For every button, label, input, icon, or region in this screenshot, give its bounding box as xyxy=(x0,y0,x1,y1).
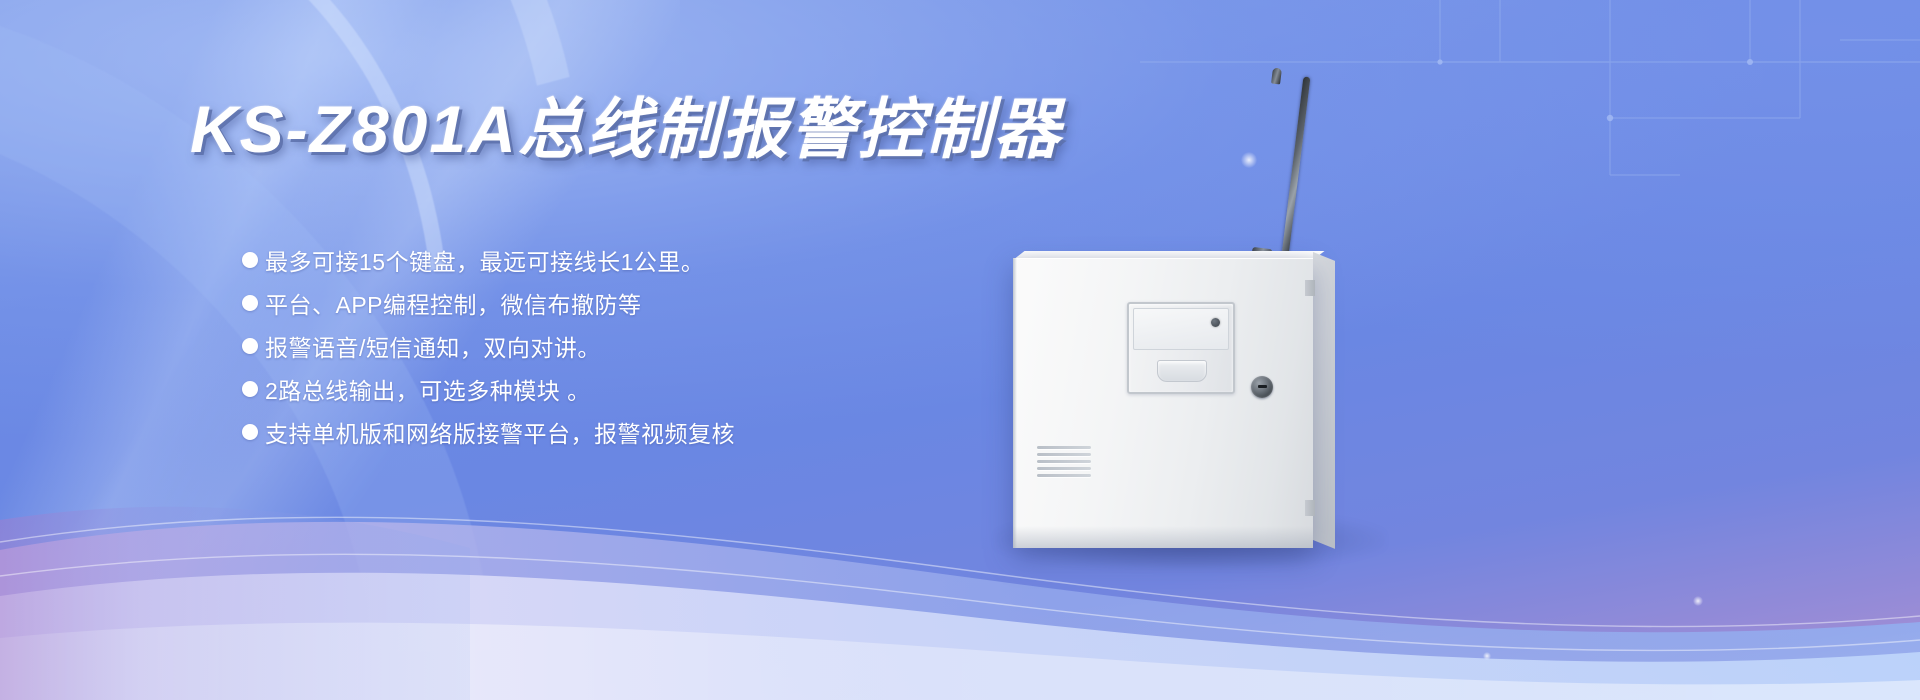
enclosure-side-face xyxy=(1313,252,1335,549)
vent-slot xyxy=(1037,453,1091,456)
enclosure-bottom-shading xyxy=(1013,526,1313,548)
feature-item: 平台、APP编程控制，微信布撤防等 xyxy=(242,281,735,324)
feature-item: 支持单机版和网络版接警平台，报警视频复核 xyxy=(242,410,735,453)
vent-slot xyxy=(1037,474,1091,477)
feature-item: 最多可接15个键盘，最远可接线长1公里。 xyxy=(242,238,735,281)
feature-item: 报警语音/短信通知，双向对讲。 xyxy=(242,324,735,367)
status-led-icon xyxy=(1211,318,1220,327)
feature-text: 报警语音/短信通知，双向对讲。 xyxy=(265,329,601,363)
bullet-icon xyxy=(242,381,258,397)
product-image xyxy=(1005,80,1425,580)
vent-slot xyxy=(1037,467,1091,470)
bullet-icon xyxy=(242,424,258,440)
ventilation-slots xyxy=(1037,446,1091,480)
feature-item: 2路总线输出，可选多种模块 。 xyxy=(242,367,735,410)
vent-slot xyxy=(1037,460,1091,463)
feature-text: 平台、APP编程控制，微信布撤防等 xyxy=(265,286,642,320)
feature-text: 支持单机版和网络版接警平台，报警视频复核 xyxy=(265,415,735,449)
glow-dot-3 xyxy=(1483,652,1491,660)
bullet-icon xyxy=(242,295,258,311)
glow-dot-2 xyxy=(1693,596,1703,606)
bullet-icon xyxy=(242,252,258,268)
feature-list: 最多可接15个键盘，最远可接线长1公里。 平台、APP编程控制，微信布撤防等 报… xyxy=(242,238,735,453)
enclosure-hinge-bottom xyxy=(1305,500,1315,516)
vent-slot xyxy=(1037,446,1091,449)
antenna-tip-icon xyxy=(1271,68,1282,85)
feature-text: 2路总线输出，可选多种模块 。 xyxy=(265,372,591,406)
keypad-display xyxy=(1133,308,1229,350)
feature-text: 最多可接15个键盘，最远可接线长1公里。 xyxy=(265,243,704,277)
door-handle xyxy=(1157,360,1207,382)
key-lock-slot xyxy=(1258,385,1267,388)
page-title: KS-Z801A总线制报警控制器 xyxy=(190,76,1062,172)
product-banner: KS-Z801A总线制报警控制器 最多可接15个键盘，最远可接线长1公里。 平台… xyxy=(0,0,1920,700)
bullet-icon xyxy=(242,338,258,354)
enclosure-hinge-top xyxy=(1305,280,1315,296)
enclosure-left-edge xyxy=(1013,258,1017,548)
